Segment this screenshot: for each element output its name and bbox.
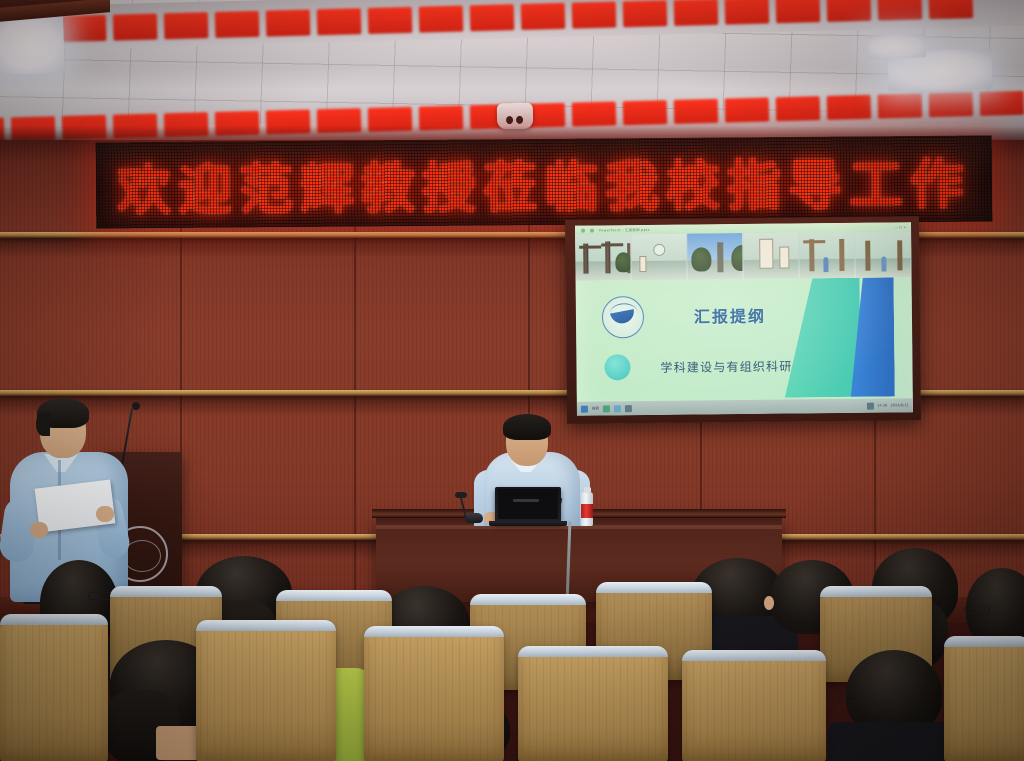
start-button-icon[interactable] xyxy=(581,405,588,412)
auditorium-seat[interactable] xyxy=(682,650,826,761)
window-controls[interactable]: — □ × xyxy=(894,225,906,229)
laptop[interactable] xyxy=(495,487,561,523)
seated-presenter-hair xyxy=(503,414,551,440)
slide-url-text: PowerPoint - 汇报提纲.pptx xyxy=(599,227,650,233)
led-banner-text: 欢迎范辉教授莅临我校指导工作 xyxy=(117,139,972,225)
standing-speaker-hair-side xyxy=(36,412,50,436)
taskbar-app-icon[interactable] xyxy=(603,405,610,412)
slide-content-area: 汇报提纲 学科建设与有组织科研 xyxy=(576,277,913,400)
slide-accent-teal xyxy=(784,278,861,398)
ceiling-panel-light xyxy=(868,33,927,59)
auditorium-seat[interactable] xyxy=(0,614,108,761)
taskbar-search-label[interactable]: 搜索 xyxy=(592,406,599,411)
tray-icon[interactable] xyxy=(867,402,874,409)
podium-microphone-head xyxy=(132,402,140,410)
windows-taskbar[interactable]: 搜索 14:36 2024/6/11 xyxy=(577,398,913,416)
taskbar-app-icon[interactable] xyxy=(625,405,632,412)
photo-cell-building xyxy=(631,234,687,281)
slide-bullet-text: 学科建设与有组织科研 xyxy=(660,357,792,375)
projection-screen: PowerPoint - 汇报提纲.pptx — □ × xyxy=(565,216,921,424)
photo-cell-stele xyxy=(743,232,799,279)
slide-photo-band xyxy=(575,231,911,281)
auditorium-seat[interactable] xyxy=(364,626,504,761)
laptop-base xyxy=(489,521,567,526)
photo-cell-monument xyxy=(687,233,743,280)
taskbar-app-icon[interactable] xyxy=(614,405,621,412)
bottle-cap xyxy=(584,487,591,493)
auditorium-scene: 欢迎范辉教授莅临我校指导工作 PowerPoint - 汇报提纲.pptx — … xyxy=(0,0,1024,761)
taskbar-tray[interactable]: 14:36 2024/6/11 xyxy=(867,402,909,409)
auditorium-seat[interactable] xyxy=(196,620,336,761)
photo-cell-archway xyxy=(799,232,855,279)
laptop-screen xyxy=(498,489,558,519)
slide-bullet-icon xyxy=(604,354,630,380)
slide-title: 汇报提纲 xyxy=(694,303,766,328)
photo-cell-gate-right xyxy=(855,231,911,278)
auditorium-seat[interactable] xyxy=(944,636,1024,761)
ceiling xyxy=(0,0,1024,150)
taskbar-date: 2024/6/11 xyxy=(890,403,908,407)
led-welcome-banner: 欢迎范辉教授莅临我校指导工作 xyxy=(96,135,993,228)
laptop-brand-badge xyxy=(513,499,539,502)
university-emblem-icon xyxy=(602,296,644,338)
chrome-forward-icon[interactable] xyxy=(590,228,594,232)
taskbar-clock: 14:36 xyxy=(877,403,887,407)
ceiling-panel-light xyxy=(0,15,65,75)
standing-speaker-hand xyxy=(96,506,114,522)
projected-slide: PowerPoint - 汇报提纲.pptx — □ × xyxy=(575,222,913,416)
computer-mouse[interactable] xyxy=(466,513,483,523)
bottle-label xyxy=(581,504,593,518)
standing-speaker-hand xyxy=(30,522,48,538)
chrome-back-icon[interactable] xyxy=(581,228,585,232)
auditorium-seat[interactable] xyxy=(518,646,668,761)
water-bottle xyxy=(581,492,593,526)
photo-cell-campus-gate xyxy=(575,234,631,281)
